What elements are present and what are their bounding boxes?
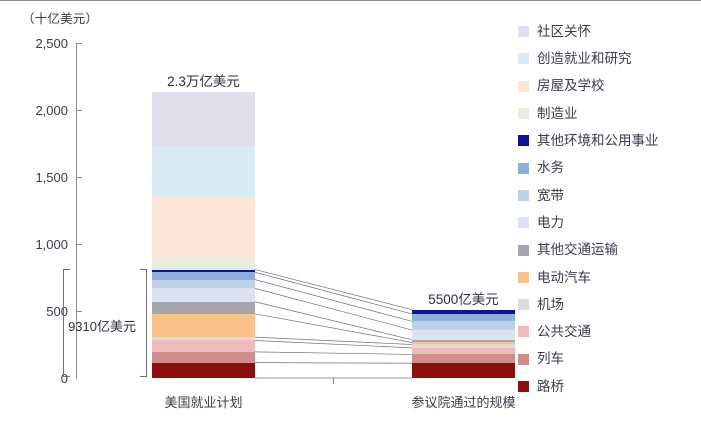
legend-item[interactable]: 列车 bbox=[518, 346, 698, 373]
y-tick-mark-2500 bbox=[76, 43, 82, 44]
y-tick-label-1500: 1,500 bbox=[4, 171, 68, 184]
y-tick-mark-2000 bbox=[76, 110, 82, 111]
legend-swatch-icon bbox=[518, 272, 529, 283]
legend-item-label: 制造业 bbox=[537, 107, 578, 121]
bar-segment[interactable] bbox=[152, 314, 255, 337]
bar-us-jobs-plan[interactable] bbox=[152, 92, 255, 378]
legend-item-label: 机场 bbox=[537, 298, 564, 312]
legend-item-label: 列车 bbox=[537, 352, 564, 366]
bar-segment[interactable] bbox=[412, 314, 515, 321]
legend-item[interactable]: 宽带 bbox=[518, 182, 698, 209]
legend-swatch-icon bbox=[518, 190, 529, 201]
legend-item[interactable]: 电力 bbox=[518, 209, 698, 236]
bar-total-label-right: 5500亿美元 bbox=[428, 288, 499, 308]
legend: 社区关怀创造就业和研究房屋及学校制造业其他环境和公用事业水务宽带电力其他交通运输… bbox=[518, 18, 698, 400]
legend-item-label: 社区关怀 bbox=[537, 25, 591, 39]
bar-total-label-left: 2.3万亿美元 bbox=[167, 70, 240, 90]
legend-item[interactable]: 其他交通运输 bbox=[518, 236, 698, 263]
y-tick-label-2000: 2,000 bbox=[4, 104, 68, 117]
legend-swatch-icon bbox=[518, 217, 529, 228]
y-tick-label-500: 500 bbox=[4, 305, 68, 318]
legend-item-label: 路桥 bbox=[537, 380, 564, 394]
legend-swatch-icon bbox=[518, 26, 529, 37]
y-tick-label-1000: 1,000 bbox=[4, 238, 68, 251]
legend-item[interactable]: 制造业 bbox=[518, 100, 698, 127]
bar-segment[interactable] bbox=[152, 280, 255, 289]
bar-segment[interactable] bbox=[152, 272, 255, 279]
bar-segment[interactable] bbox=[152, 257, 255, 270]
y-tick-mark-500 bbox=[76, 311, 82, 312]
legend-swatch-icon bbox=[518, 81, 529, 92]
legend-item-label: 电力 bbox=[537, 216, 564, 230]
legend-swatch-icon bbox=[518, 326, 529, 337]
bar-segment[interactable] bbox=[152, 146, 255, 197]
bar-segment[interactable] bbox=[152, 302, 255, 314]
legend-item[interactable]: 其他环境和公用事业 bbox=[518, 127, 698, 154]
x-category-label-right: 参议院通过的规模 bbox=[411, 392, 515, 411]
y-tick-mark-1000 bbox=[76, 244, 82, 245]
legend-swatch-icon bbox=[518, 354, 529, 365]
legend-swatch-icon bbox=[518, 245, 529, 256]
legend-swatch-icon bbox=[518, 135, 529, 146]
legend-swatch-icon bbox=[518, 381, 529, 392]
axis-unit-label: （十亿美元） bbox=[22, 8, 98, 27]
legend-item[interactable]: 机场 bbox=[518, 291, 698, 318]
bar-segment[interactable] bbox=[152, 197, 255, 257]
legend-item[interactable]: 创造就业和研究 bbox=[518, 45, 698, 72]
legend-item-label: 其他环境和公用事业 bbox=[537, 134, 659, 148]
legend-item-label: 水务 bbox=[537, 161, 564, 175]
transport-bracket-right bbox=[140, 269, 147, 377]
bar-segment[interactable] bbox=[412, 330, 515, 340]
bar-segment[interactable] bbox=[152, 340, 255, 351]
bar-senate-passed[interactable] bbox=[412, 310, 515, 378]
legend-swatch-icon bbox=[518, 53, 529, 64]
legend-swatch-icon bbox=[518, 299, 529, 310]
bar-segment[interactable] bbox=[152, 363, 255, 378]
bar-segment[interactable] bbox=[152, 352, 255, 363]
bar-segment[interactable] bbox=[412, 321, 515, 330]
legend-item-label: 公共交通 bbox=[537, 325, 591, 339]
bar-segment[interactable] bbox=[412, 354, 515, 363]
legend-item[interactable]: 路桥 bbox=[518, 373, 698, 400]
x-axis-line bbox=[0, 0, 701, 1]
legend-item-label: 电动汽车 bbox=[537, 271, 591, 285]
bar-segment[interactable] bbox=[152, 92, 255, 146]
legend-item-label: 宽带 bbox=[537, 189, 564, 203]
legend-item[interactable]: 水务 bbox=[518, 154, 698, 181]
legend-item[interactable]: 社区关怀 bbox=[518, 18, 698, 45]
legend-item-label: 房屋及学校 bbox=[537, 79, 605, 93]
legend-item[interactable]: 电动汽车 bbox=[518, 264, 698, 291]
stacked-bar-chart: （十亿美元） 2,500 2,000 1,500 1,000 500 0 2.3… bbox=[0, 0, 701, 428]
bar-segment[interactable] bbox=[412, 363, 515, 378]
legend-swatch-icon bbox=[518, 163, 529, 174]
legend-item-label: 创造就业和研究 bbox=[537, 52, 632, 66]
legend-item-label: 其他交通运输 bbox=[537, 243, 618, 257]
bar-segment[interactable] bbox=[152, 288, 255, 301]
transport-bracket-label: 9310亿美元 bbox=[68, 316, 136, 335]
x-axis-minor-tick bbox=[333, 378, 334, 384]
legend-item[interactable]: 房屋及学校 bbox=[518, 73, 698, 100]
legend-item[interactable]: 公共交通 bbox=[518, 318, 698, 345]
legend-swatch-icon bbox=[518, 108, 529, 119]
y-tick-label-0: 0 bbox=[4, 372, 68, 385]
x-category-label-left: 美国就业计划 bbox=[164, 392, 242, 411]
y-tick-label-2500: 2,500 bbox=[4, 37, 68, 50]
y-tick-mark-1500 bbox=[76, 177, 82, 178]
